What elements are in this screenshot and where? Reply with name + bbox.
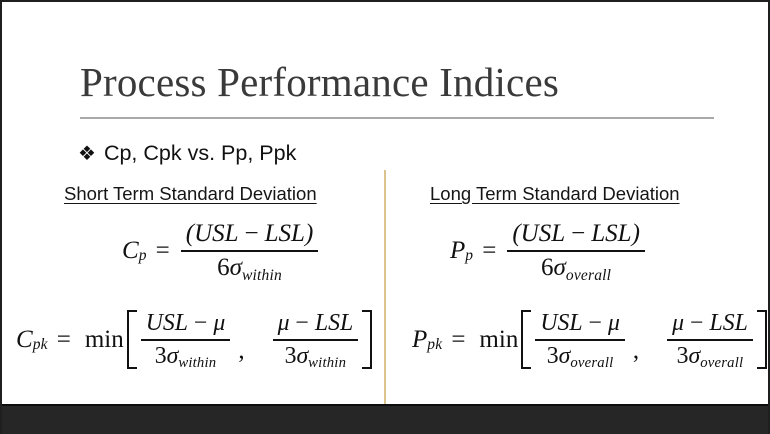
ppk-term2-subscript: overall	[700, 355, 743, 371]
ppk-term1-subscript: overall	[570, 355, 613, 371]
cpk-term1-mu: μ	[213, 310, 225, 336]
cpk-term2-mu: μ	[278, 310, 290, 336]
ppk-term2-fraction-bar	[667, 339, 753, 341]
cp-symbol-subscript: p	[139, 247, 147, 265]
pp-equals-sign: =	[482, 237, 496, 265]
pp-symbol-base: P	[450, 237, 465, 265]
ppk-term1-minus: −	[589, 310, 602, 336]
ppk-term2-coefficient: 3	[677, 343, 689, 369]
cpk-term1-subscript: within	[178, 355, 216, 371]
cp-symbol-base: C	[122, 237, 139, 265]
cpk-term1-sigma: σ	[167, 343, 179, 369]
cpk-term1-denominator: 3σwithin	[150, 343, 222, 370]
pp-fraction-bar	[507, 250, 645, 252]
page-title: Process Performance Indices	[80, 59, 559, 105]
cpk-term1-numerator: USL−μ	[141, 310, 231, 337]
ppk-term1-sigma: σ	[559, 343, 571, 369]
ppk-term1-usl: USL	[540, 310, 582, 336]
column-heading-long-term: Long Term Standard Deviation	[430, 183, 680, 205]
cpk-term2-sigma: σ	[296, 343, 308, 369]
cp-numerator-lsl: LSL	[265, 220, 305, 247]
ppk-term2-minus: −	[690, 310, 703, 336]
cpk-term2-fraction-bar	[273, 339, 359, 341]
ppk-term2-mu: μ	[672, 310, 684, 336]
ppk-term1-coefficient: 3	[547, 343, 559, 369]
formula-cp: Cp = (USL−LSL) 6σwithin	[122, 220, 320, 282]
cp-denominator: 6σwithin	[212, 254, 287, 282]
ppk-symbol-subscript: pk	[427, 336, 442, 354]
cpk-term2-fraction: μ−LSL 3σwithin	[273, 310, 359, 369]
pp-numerator-open-paren: (	[512, 220, 520, 247]
ppk-bracket-open-icon	[521, 310, 531, 369]
slide-canvas: Process Performance Indices ❖ Cp, Cpk vs…	[0, 0, 770, 434]
bullet-list-item: ❖ Cp, Cpk vs. Pp, Ppk	[78, 141, 296, 165]
cpk-term1-coefficient: 3	[155, 343, 167, 369]
ppk-term1-fraction-bar	[535, 339, 625, 341]
cp-numerator-close-paren: )	[305, 220, 313, 247]
cpk-term2-numerator: μ−LSL	[273, 310, 359, 337]
ppk-min-operator: min	[479, 326, 518, 354]
bullet-item-label: Cp, Cpk vs. Pp, Ppk	[104, 141, 296, 165]
formula-cpk: Cpk = min USL−μ 3σwithin , μ−LSL 3σwithi…	[16, 310, 372, 369]
cp-numerator-usl: USL	[194, 220, 238, 247]
cpk-symbol-base: C	[16, 326, 33, 354]
cp-numerator-minus: −	[245, 220, 259, 247]
ppk-term1-mu: μ	[608, 310, 620, 336]
formula-pp: Pp = (USL−LSL) 6σoverall	[450, 220, 647, 282]
cpk-equals-sign: =	[57, 326, 71, 354]
column-heading-short-term: Short Term Standard Deviation	[64, 183, 317, 205]
pp-numerator-usl: USL	[521, 220, 565, 247]
pp-fraction: (USL−LSL) 6σoverall	[507, 220, 645, 282]
pp-symbol-subscript: p	[465, 247, 473, 265]
cp-fraction: (USL−LSL) 6σwithin	[181, 220, 319, 282]
cpk-term2-subscript: within	[308, 355, 346, 371]
ppk-term2-numerator: μ−LSL	[667, 310, 753, 337]
cp-fraction-bar	[181, 250, 319, 252]
cpk-term-separator: ,	[238, 337, 244, 369]
ppk-term1-numerator: USL−μ	[535, 310, 625, 337]
pp-denominator: 6σoverall	[536, 254, 616, 282]
ppk-term2-lsl: LSL	[709, 310, 747, 336]
formula-ppk: Ppk = min USL−μ 3σoverall , μ−LSL 3σover…	[412, 310, 767, 369]
cpk-term1-fraction-bar	[141, 339, 231, 341]
ppk-term1-fraction: USL−μ 3σoverall	[535, 310, 625, 369]
pp-numerator-lsl: LSL	[591, 220, 631, 247]
cpk-term2-lsl: LSL	[315, 310, 353, 336]
cpk-min-operator: min	[85, 326, 124, 354]
pp-numerator-minus: −	[571, 220, 585, 247]
cp-denominator-coefficient: 6	[217, 254, 230, 281]
pp-numerator: (USL−LSL)	[507, 220, 645, 248]
ppk-symbol-base: P	[412, 326, 427, 354]
ppk-term-separator: ,	[633, 337, 639, 369]
cpk-symbol-subscript: pk	[33, 336, 48, 354]
ppk-term2-denominator: 3σoverall	[672, 343, 749, 370]
cpk-bracket-open-icon	[127, 310, 137, 369]
title-divider-rule	[80, 117, 714, 119]
cpk-bracket-close-icon	[362, 310, 372, 369]
cp-denominator-sigma: σ	[230, 254, 242, 281]
column-divider	[384, 170, 386, 406]
cpk-term1-usl: USL	[146, 310, 188, 336]
slide-footer-band	[2, 404, 768, 434]
pp-numerator-close-paren: )	[632, 220, 640, 247]
ppk-equals-sign: =	[451, 326, 465, 354]
cp-denominator-subscript: within	[242, 267, 282, 284]
cp-numerator: (USL−LSL)	[181, 220, 319, 248]
cp-equals-sign: =	[156, 237, 170, 265]
cpk-term1-fraction: USL−μ 3σwithin	[141, 310, 231, 369]
ppk-bracket-close-icon	[757, 310, 767, 369]
pp-denominator-sigma: σ	[554, 254, 566, 281]
cp-numerator-open-paren: (	[186, 220, 194, 247]
cpk-term2-minus: −	[295, 310, 308, 336]
ppk-term1-denominator: 3σoverall	[542, 343, 619, 370]
ppk-term2-fraction: μ−LSL 3σoverall	[667, 310, 753, 369]
cpk-term2-coefficient: 3	[285, 343, 297, 369]
cpk-term1-minus: −	[194, 310, 207, 336]
cpk-term2-denominator: 3σwithin	[280, 343, 352, 370]
pp-denominator-subscript: overall	[566, 267, 611, 284]
pp-denominator-coefficient: 6	[541, 254, 554, 281]
ppk-term2-sigma: σ	[689, 343, 701, 369]
diamond-bullet-icon: ❖	[78, 143, 96, 163]
